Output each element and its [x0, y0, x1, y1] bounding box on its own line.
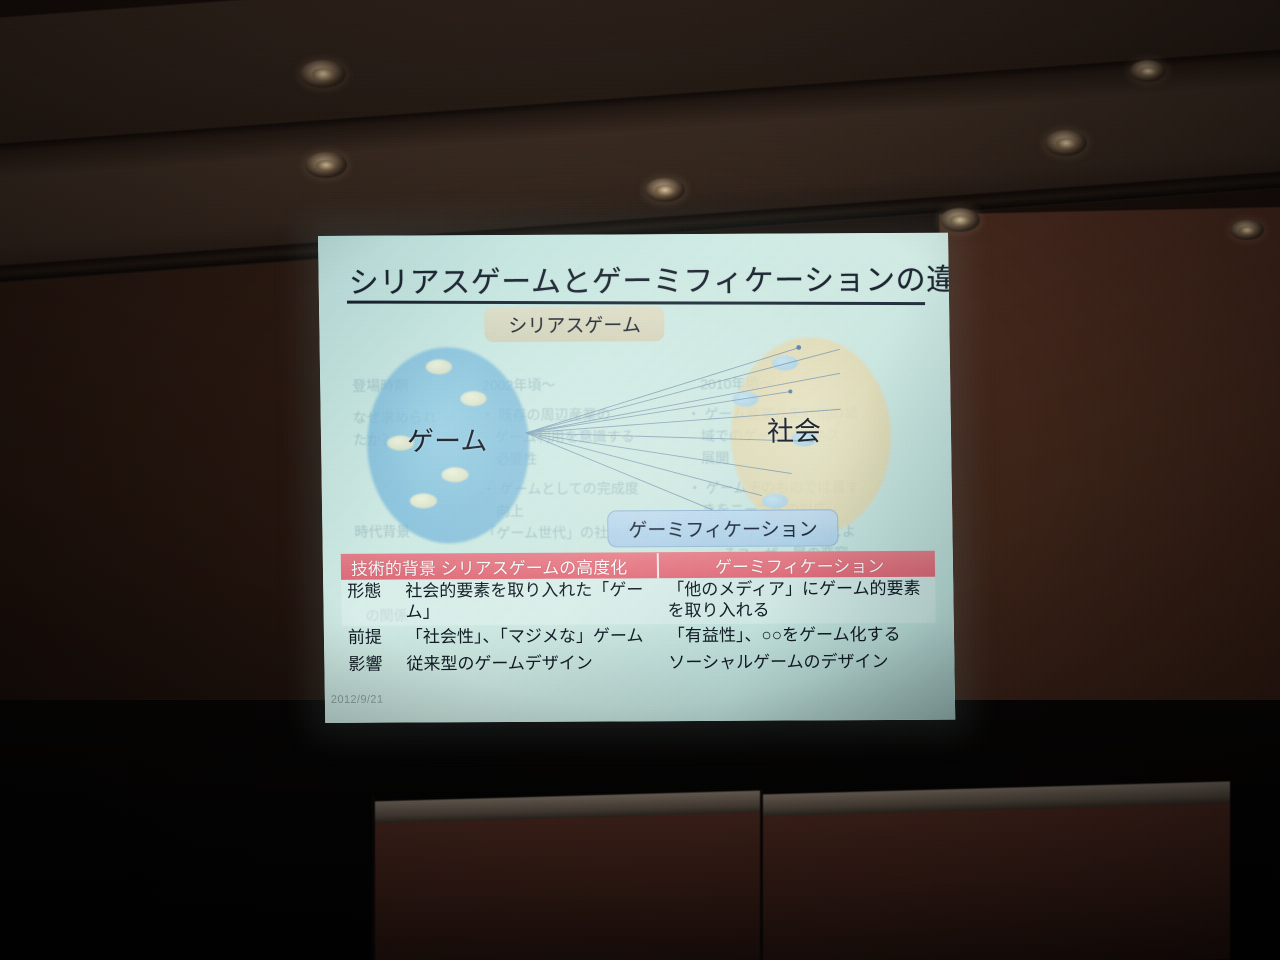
table-cell-serious-game: 従来型のゲームデザイン: [406, 653, 656, 675]
table-row: 形態社会的要素を取り入れた「ゲーム」「他のメディア」にゲーム的要素を取り入れる: [341, 577, 936, 626]
downlight-icon: [940, 208, 980, 232]
downlight-lamp: [312, 68, 334, 80]
downlight-lamp: [1056, 138, 1076, 149]
downlight-icon: [305, 152, 347, 178]
table-body: 形態社会的要素を取り入れた「ゲーム」「他のメディア」にゲーム的要素を取り入れる前…: [341, 577, 937, 680]
table-cell-serious-game: 社会的要素を取り入れた「ゲーム」: [405, 580, 656, 623]
table-cell-serious-game: 「社会性」、「マジメな」ゲーム: [406, 626, 656, 648]
downlight-icon: [1230, 220, 1264, 240]
projection-screen: シリアスゲームとゲーミフィケーションの違い 登場時期 なぜ求められ たか？ 時代…: [318, 233, 955, 723]
table-header-left: 技術的背景 シリアスゲームの高度化: [341, 553, 657, 580]
table-header-row: 技術的背景 シリアスゲームの高度化 ゲーミフィケーション: [341, 551, 935, 580]
desk-front-panel: [372, 813, 762, 960]
downlight-icon: [300, 60, 346, 88]
ellipse-society-label: 社会: [767, 409, 822, 448]
ellipse-game-label: ゲーム: [407, 419, 488, 458]
desk-seam: [372, 796, 375, 960]
presentation-slide: シリアスゲームとゲーミフィケーションの違い 登場時期 なぜ求められ たか？ 時代…: [318, 233, 955, 723]
slide-datestamp: 2012/9/21: [331, 694, 384, 706]
table-header-right-overlay: ゲーミフィケーション: [715, 557, 885, 577]
table-cell-gamification: 「他のメディア」にゲーム的要素を取り入れる: [655, 579, 936, 622]
downlight-lamp: [316, 160, 336, 171]
desk-seam: [760, 788, 763, 960]
table-header-left-overlay: シリアスゲームの高度化: [441, 558, 628, 578]
downlight-lamp: [950, 215, 969, 226]
comparison-table: 技術的背景 シリアスゲームの高度化 ゲーミフィケーション 形態社会的要素を取り入…: [341, 551, 937, 680]
table-row: 前提「社会性」、「マジメな」ゲーム「有益性」、○○をゲーム化する: [342, 623, 936, 653]
downlight-icon: [1130, 60, 1166, 82]
photo-scene: シリアスゲームとゲーミフィケーションの違い 登場時期 なぜ求められ たか？ 時代…: [0, 0, 1280, 960]
table-cell-gamification: ソーシャルゲームのデザイン: [656, 652, 936, 674]
downlight-icon: [1045, 130, 1087, 156]
desk: [760, 788, 1230, 960]
table-cell-key: 前提: [342, 628, 406, 649]
table-cell-key: 影響: [342, 655, 406, 676]
downlight-lamp: [655, 185, 674, 196]
downlight-icon: [645, 178, 685, 202]
table-cell-gamification: 「有益性」、○○をゲーム化する: [656, 625, 936, 647]
downlight-lamp: [1139, 67, 1156, 77]
table-row: 影響従来型のゲームデザインソーシャルゲームのデザイン: [342, 650, 936, 680]
gamification-box: ゲーミフィケーション: [607, 509, 839, 547]
serious-game-box: シリアスゲーム: [484, 306, 665, 342]
table-cell-key: 形態: [341, 582, 405, 603]
downlight-lamp: [1239, 226, 1255, 235]
desk: [372, 796, 762, 960]
table-header-right: ゲーミフィケーション: [657, 551, 935, 577]
desk-front-panel: [760, 803, 1230, 960]
right-wall-panel: [939, 206, 1280, 774]
table-header-left-base: 技術的背景: [351, 559, 436, 578]
venn-diagram: ゲーム 社会 シリアスゲーム ゲーミフィケーション: [319, 313, 952, 546]
